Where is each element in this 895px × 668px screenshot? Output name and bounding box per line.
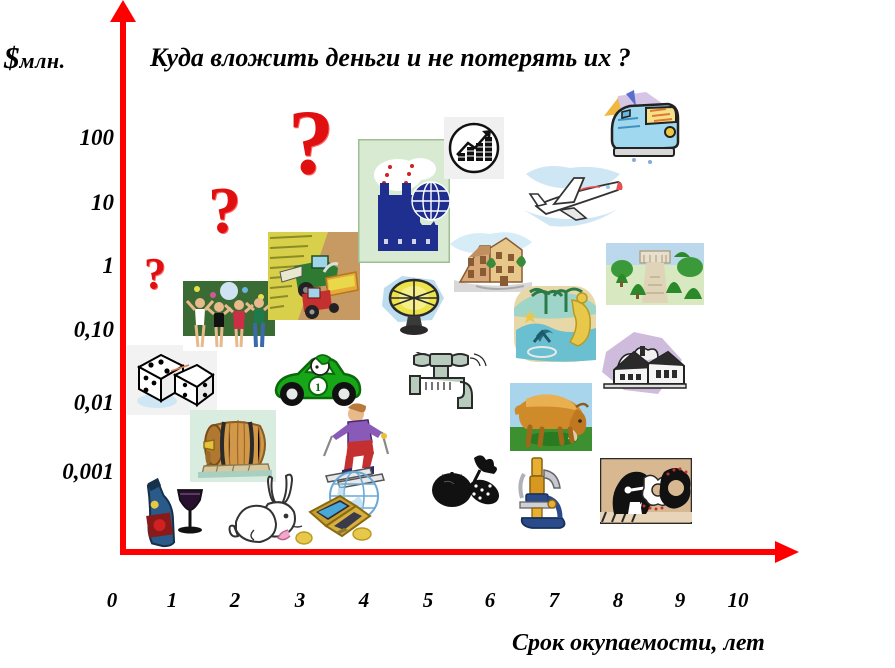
x-tick-2: 2 — [215, 588, 255, 613]
x-tick-0: 0 — [92, 588, 132, 613]
dancing-women-nightclub-icon — [183, 281, 275, 351]
x-tick-3: 3 — [280, 588, 320, 613]
x-tick-7: 7 — [534, 588, 574, 613]
growth-chart-icon — [444, 117, 504, 179]
y-tick-0-01: 0,01 — [4, 390, 114, 416]
x-axis-arrow-icon — [775, 541, 799, 563]
combine-harvester-agriculture-icon — [268, 232, 360, 320]
microscope-science-icon — [512, 454, 578, 534]
vegetables-tomato-cucumber-icon — [428, 452, 506, 514]
x-axis-line — [120, 549, 780, 555]
svg-text:1: 1 — [315, 380, 321, 394]
factory-global-industry-icon — [358, 139, 450, 263]
country-house-cottage-icon — [600, 330, 688, 400]
airplane-aviation-icon — [520, 160, 625, 232]
train-locomotive-icon — [600, 88, 690, 168]
page-title: Куда вложить деньги и не потерять их ? — [150, 43, 631, 73]
y-tick-1: 1 — [4, 253, 114, 279]
lemon-satellite-dish-icon — [378, 272, 452, 338]
x-tick-8: 8 — [598, 588, 638, 613]
estate-park-trees-icon — [606, 243, 704, 305]
head-with-gears-innovation-icon — [600, 458, 692, 524]
wine-bottle-glass-icon — [132, 470, 208, 550]
question-mark-small: ? — [144, 252, 166, 296]
laptop-internet-globe-icon — [300, 468, 386, 542]
x-tick-1: 1 — [152, 588, 192, 613]
x-tick-6: 6 — [470, 588, 510, 613]
investment-scatter-chart: $млн. Куда вложить деньги и не потерять … — [0, 0, 895, 668]
y-axis-tick-labels: 100 10 1 0,10 0,01 0,001 — [0, 0, 114, 560]
y-tick-0-001: 0,001 — [4, 459, 114, 485]
question-mark-medium: ? — [208, 178, 241, 244]
x-tick-5: 5 — [408, 588, 448, 613]
y-tick-10: 10 — [4, 190, 114, 216]
y-tick-0-10: 0,10 — [4, 317, 114, 343]
tropical-oasis-tourism-icon — [512, 284, 598, 364]
x-tick-10: 10 — [718, 588, 758, 613]
y-axis-line — [120, 18, 126, 555]
question-mark-large: ? — [288, 96, 334, 188]
y-tick-100: 100 — [4, 125, 114, 151]
dice-gambling-icon — [127, 345, 217, 415]
x-axis-title: Срок окупаемости, лет — [512, 630, 765, 657]
cow-livestock-icon — [510, 383, 592, 451]
water-tap-utilities-icon — [408, 352, 488, 414]
x-tick-4: 4 — [344, 588, 384, 613]
x-tick-9: 9 — [660, 588, 700, 613]
